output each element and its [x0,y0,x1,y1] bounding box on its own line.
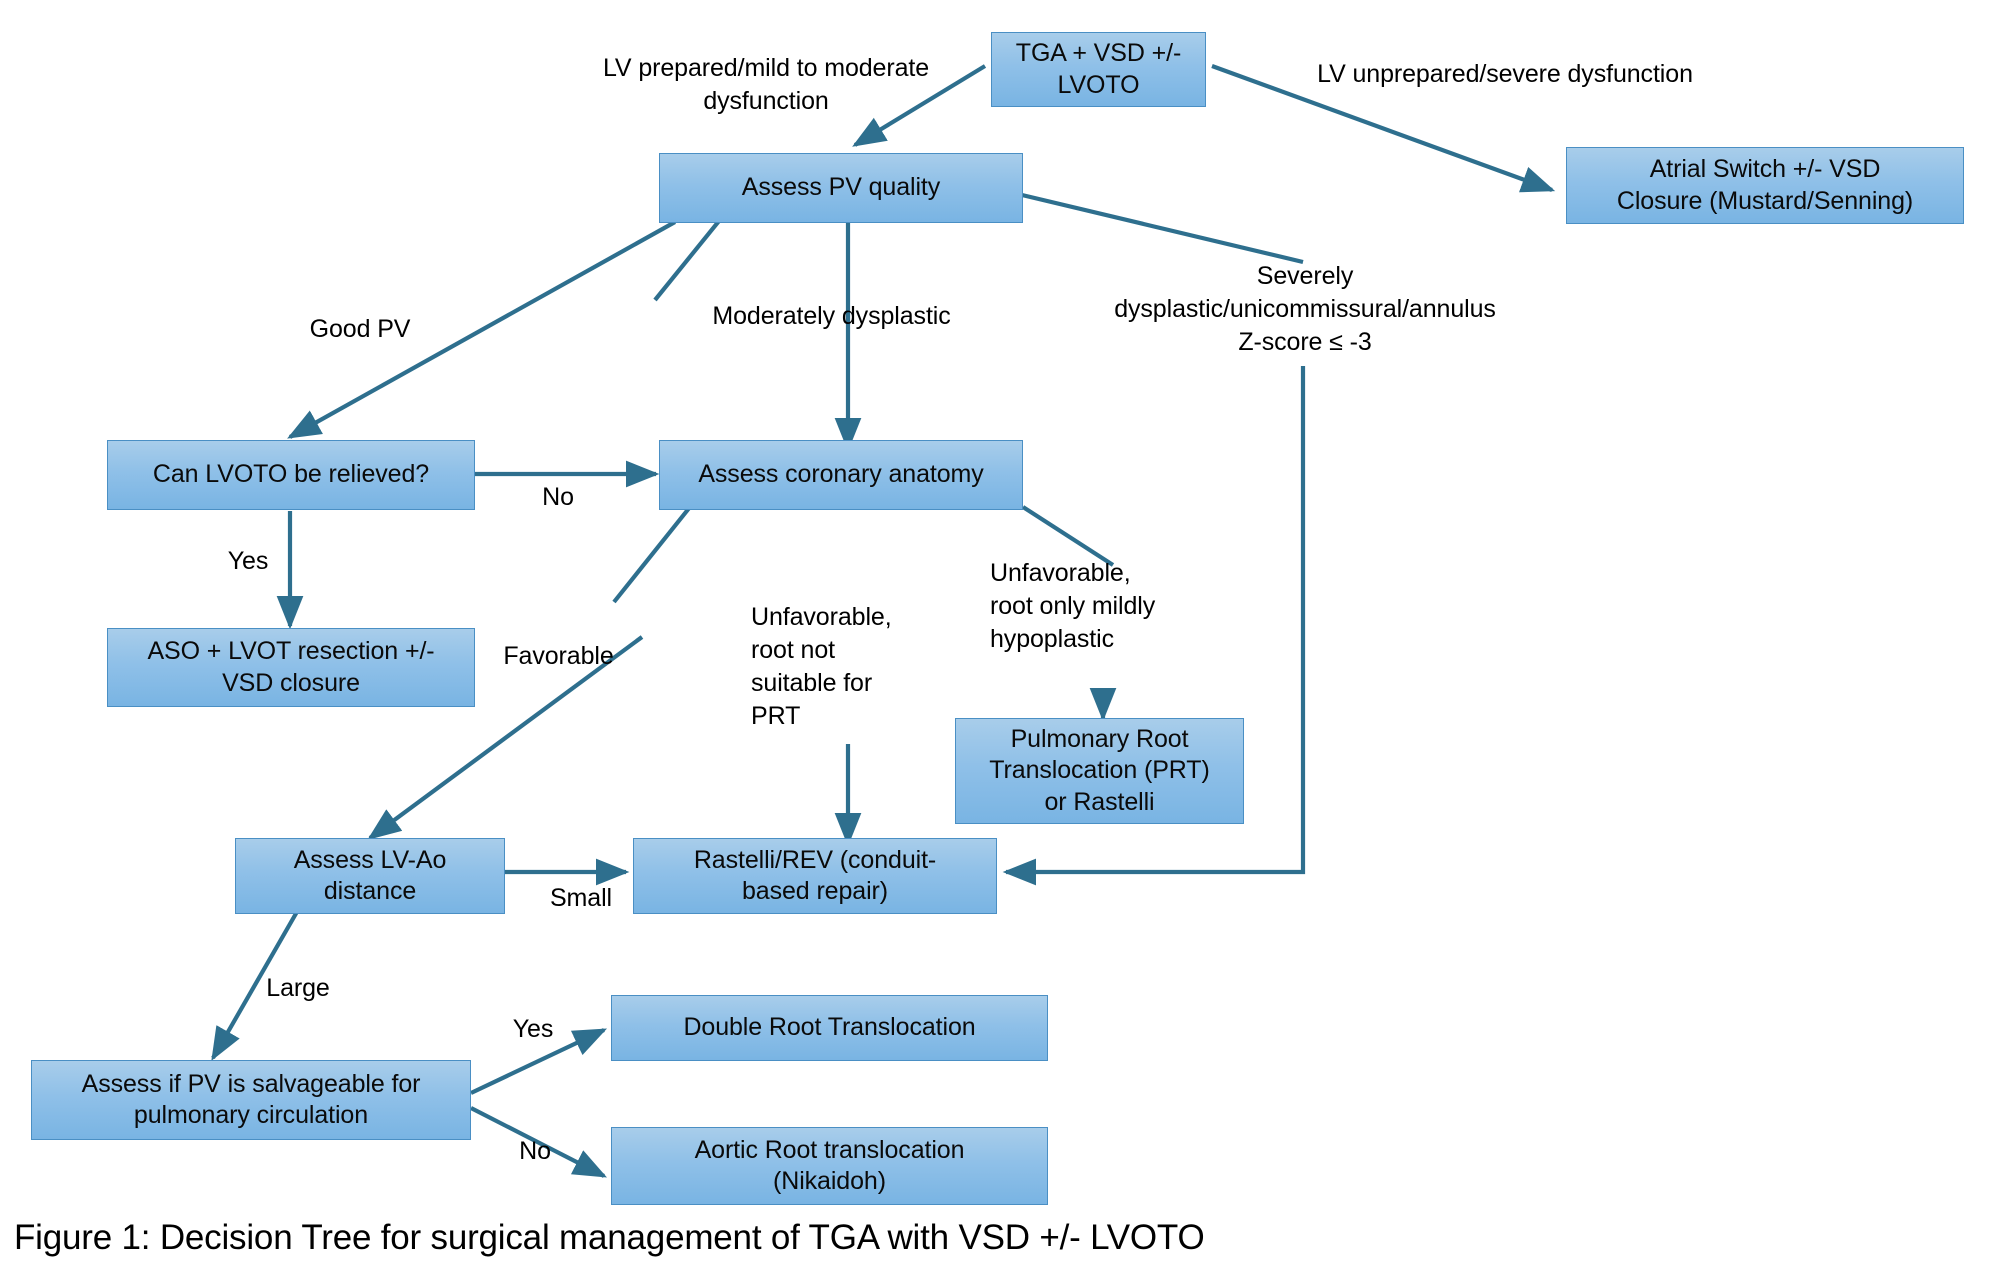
edge-label-severely-dysplastic: Severely dysplastic/unicommissural/annul… [1055,260,1555,359]
figure-caption: Figure 1: Decision Tree for surgical man… [14,1218,1205,1258]
node-tga-vsd-lvoto[interactable]: TGA + VSD +/- LVOTO [991,32,1206,107]
node-label: Pulmonary Root Translocation (PRT) or Ra… [989,724,1209,819]
node-label: Atrial Switch +/- VSD Closure (Mustard/S… [1617,154,1913,217]
node-atrial-switch[interactable]: Atrial Switch +/- VSD Closure (Mustard/S… [1566,147,1964,224]
edge-label-small: Small [532,882,630,915]
figure-root: TGA + VSD +/- LVOTO Atrial Switch +/- VS… [0,0,1998,1274]
edge-assess-pv-severe-stem [1022,195,1303,262]
edge-label-favorable: Favorable [481,640,636,673]
node-label: ASO + LVOT resection +/- VSD closure [147,636,434,699]
node-label: Assess if PV is salvageable for pulmonar… [82,1069,421,1132]
node-aortic-root-translocation[interactable]: Aortic Root translocation (Nikaidoh) [611,1127,1048,1205]
edge-label-no-salvage: No [504,1135,566,1168]
node-label: TGA + VSD +/- LVOTO [1016,38,1181,101]
edge-label-unfavorable-mild-hypoplastic: Unfavorable, root only mildly hypoplasti… [990,557,1240,656]
node-assess-pv-quality[interactable]: Assess PV quality [659,153,1023,223]
node-double-root-translocation[interactable]: Double Root Translocation [611,995,1048,1061]
node-aso-lvot-resection[interactable]: ASO + LVOT resection +/- VSD closure [107,628,475,707]
edge-label-lv-unprepared: LV unprepared/severe dysfunction [1285,58,1725,91]
edge-label-no-lvoto: No [526,481,590,514]
edge-label-yes-lvoto: Yes [215,545,281,578]
node-assess-lv-ao-distance[interactable]: Assess LV-Ao distance [235,838,505,914]
edge-assess-coronary-favorable-stem [614,507,690,602]
node-assess-pv-salvageable[interactable]: Assess if PV is salvageable for pulmonar… [31,1060,471,1140]
node-label: Double Root Translocation [683,1012,975,1044]
node-label: Assess PV quality [742,172,940,204]
edge-label-large: Large [250,972,346,1005]
node-label: Assess coronary anatomy [698,459,983,491]
edge-label-lv-prepared: LV prepared/mild to moderate dysfunction [572,52,960,118]
edge-label-moderately-dysplastic: Moderately dysplastic [674,300,989,333]
node-label: Aortic Root translocation (Nikaidoh) [695,1135,965,1198]
edge-label-unfavorable-not-suitable: Unfavorable, root not suitable for PRT [751,601,961,733]
node-label: Assess LV-Ao distance [294,845,447,908]
node-can-lvoto-be-relieved[interactable]: Can LVOTO be relieved? [107,440,475,510]
node-assess-coronary-anatomy[interactable]: Assess coronary anatomy [659,440,1023,510]
node-label: Can LVOTO be relieved? [153,459,429,491]
edge-label-yes-salvage: Yes [500,1013,566,1046]
node-label: Rastelli/REV (conduit- based repair) [694,845,936,908]
node-rastelli-rev[interactable]: Rastelli/REV (conduit- based repair) [633,838,997,914]
node-pulmonary-root-translocation[interactable]: Pulmonary Root Translocation (PRT) or Ra… [955,718,1244,824]
edge-label-good-pv: Good PV [291,313,429,346]
